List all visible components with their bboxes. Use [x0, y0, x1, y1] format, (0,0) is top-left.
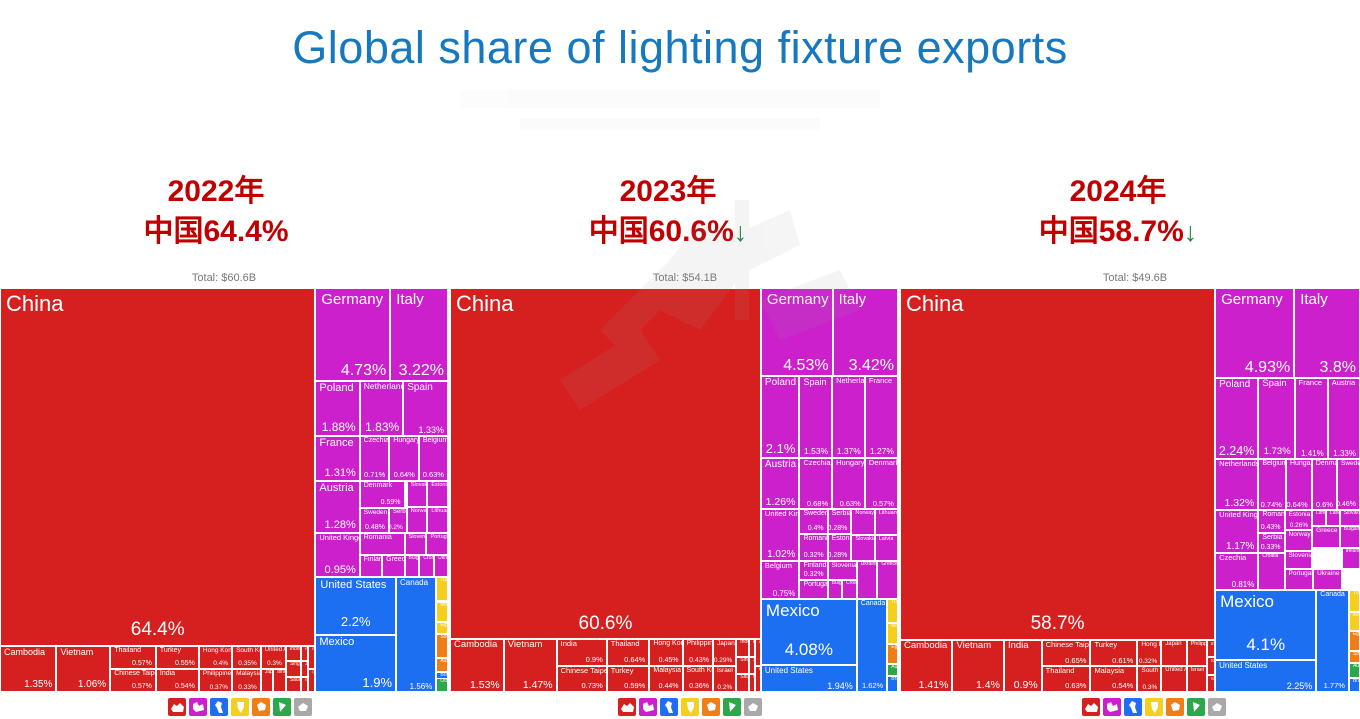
treemap-cell[interactable]: Czechia0.68%	[799, 458, 832, 510]
treemap-cell[interactable]: Hong Kong0.45%	[649, 639, 682, 665]
legend-other-green-icon[interactable]	[1187, 698, 1205, 716]
cell-country-label: Estonia	[431, 482, 448, 488]
treemap-cell[interactable]: South Africa	[436, 634, 448, 658]
treemap-cell[interactable]: Canada1.77%	[1316, 590, 1349, 692]
cell-country-label: China	[906, 291, 963, 316]
treemap-cell[interactable]: Ukraine	[434, 555, 448, 577]
cell-country-label: United Kingdom	[1219, 511, 1258, 520]
cell-value-label: 0.64%	[394, 471, 415, 480]
legend-asia-icon[interactable]	[168, 698, 186, 716]
treemap-cell[interactable]: Canada1.62%	[857, 599, 887, 692]
legend-americas-icon[interactable]	[1124, 698, 1142, 716]
treemap-cell[interactable]: Israel0.2%	[713, 666, 736, 692]
treemap-cell[interactable]: Finland0.32%	[799, 561, 827, 580]
treemap-cell[interactable]: Indonesia	[1207, 640, 1215, 657]
treemap-cell[interactable]: Spain1.73%	[1258, 378, 1294, 459]
cell-country-label: Czechia	[803, 459, 830, 468]
treemap-cell[interactable]: Turkey0.59%	[607, 666, 650, 692]
treemap-cell[interactable]: Bulgaria	[405, 555, 420, 577]
cell-country-label: South Korea	[1141, 667, 1161, 674]
treemap-cell[interactable]: Malaysia0.33%	[232, 669, 261, 692]
cell-value-label: 1.47%	[523, 679, 553, 691]
cell-country-label: Denmark	[1316, 460, 1337, 468]
treemap-cell[interactable]: Philippines0.43%	[683, 639, 713, 665]
treemap-cell[interactable]: Indonesia	[736, 639, 749, 656]
treemap-canvas[interactable]: China64.4%Cambodia1.35%Vietnam1.06%Thail…	[0, 288, 448, 692]
legend-unspecified-grey-icon[interactable]	[1208, 698, 1226, 716]
treemap-canvas[interactable]: China60.6%Cambodia1.53%Vietnam1.47%India…	[450, 288, 898, 692]
legend-unspecified-grey-icon[interactable]	[294, 698, 312, 716]
treemap-cell[interactable]: Slovenia	[1285, 551, 1313, 570]
treemap-cell[interactable]: Australia	[1349, 663, 1360, 678]
treemap-cell[interactable]: Norway	[851, 509, 874, 535]
treemap-cell[interactable]: Saudi Arabia	[736, 674, 749, 692]
treemap-cell[interactable]: Sweden0.46%	[1337, 459, 1360, 510]
treemap-cell[interactable]: Portugal	[1285, 569, 1314, 590]
treemap-cell[interactable]: Saudi Arabia	[1207, 675, 1215, 692]
treemap-cell[interactable]: Estonia0.28%	[828, 534, 852, 561]
treemap-cell[interactable]: Ukraine	[1313, 569, 1342, 590]
legend-europe-icon[interactable]	[1103, 698, 1121, 716]
cell-country-label: Denmark	[869, 459, 898, 468]
treemap-cell[interactable]: Canada1.56%	[396, 577, 436, 692]
treemap-cell[interactable]: Sweden0.4%	[799, 509, 827, 534]
cell-value-label: 0.81%	[1232, 580, 1255, 589]
cell-value-label: 1.88%	[322, 421, 356, 435]
treemap-cell[interactable]: Thailand0.57%	[110, 646, 156, 669]
treemap-cell[interactable]: Vietnam1.4%	[952, 640, 1004, 692]
treemap-cell[interactable]: Denmark0.6%	[1312, 459, 1337, 510]
cell-value-label: 1.33%	[418, 425, 444, 435]
treemap-cell[interactable]: South Korea0.36%	[683, 666, 713, 692]
treemap-cell[interactable]: Vietnam1.47%	[504, 639, 557, 692]
treemap-cell[interactable]: Egypt	[436, 622, 448, 634]
cell-country-label: Israel	[1191, 667, 1204, 673]
treemap-cell[interactable]: United Arab Emirates	[1161, 666, 1186, 692]
treemap-cell[interactable]: Spain1.53%	[799, 376, 832, 458]
cell-country-label: France	[869, 377, 892, 386]
cell-country-label: Hong Kong	[203, 647, 232, 654]
treemap-cell[interactable]: Slovenia	[405, 533, 427, 555]
cell-country-label: Lithuania	[879, 510, 898, 516]
cell-country-label: Germany	[1221, 291, 1283, 308]
treemap-cell[interactable]: Italy3.8%	[1294, 288, 1360, 378]
treemap-cell[interactable]: Chinese Taipei0.65%	[1042, 640, 1091, 666]
treemap-cell[interactable]: Australia	[436, 658, 448, 672]
treemap-cell[interactable]: Ireland	[1342, 548, 1360, 569]
cell-value-label: 0.9%	[1014, 679, 1038, 691]
cell-value-label: 0.75%	[773, 589, 796, 598]
treemap-cell[interactable]: Bulgaria	[828, 580, 842, 599]
cell-value-label: 3.22%	[399, 362, 444, 380]
treemap-cell[interactable]: Greece	[877, 561, 898, 599]
treemap-cell[interactable]: United Kingdom1.17%	[1215, 510, 1258, 553]
treemap-cell[interactable]: Vietnam1.06%	[56, 646, 110, 692]
cell-country-label: China	[456, 291, 513, 316]
cell-country-label: Croatia	[423, 556, 434, 562]
cell-value-label: 0.45%	[659, 657, 679, 665]
treemap-cell[interactable]: Hungary0.63%	[832, 458, 865, 510]
treemap-2023[interactable]: China60.6%Cambodia1.53%Vietnam1.47%India…	[450, 288, 898, 692]
cell-country-label: Croatia	[846, 581, 857, 587]
treemap-cell[interactable]: France1.31%	[315, 436, 359, 481]
treemap-cell[interactable]: Chinese Taipei0.73%	[557, 666, 607, 692]
treemap-cell[interactable]: Serbia0.33%	[1258, 533, 1284, 553]
cell-country-label: Cambodia	[454, 640, 497, 651]
legend-americas-icon[interactable]	[660, 698, 678, 716]
cell-value-label: 0.37%	[210, 684, 228, 691]
treemap-cell[interactable]: United States2.25%	[1215, 660, 1316, 692]
cell-country-label: Spain	[803, 377, 826, 387]
cell-value-label: 1.06%	[78, 679, 106, 691]
cell-value-label: 2.1%	[766, 442, 796, 457]
treemap-cell[interactable]: Belgium0.74%	[1258, 459, 1286, 510]
treemap-cell[interactable]: Saudi Arabia	[286, 677, 301, 692]
treemap-cell[interactable]: Tunisia	[436, 577, 448, 601]
legend-africa-icon[interactable]	[681, 698, 699, 716]
treemap-cell[interactable]: China60.6%	[450, 288, 761, 639]
treemap-cell[interactable]: Germany4.73%	[315, 288, 390, 381]
treemap-cell[interactable]: Japan0.29%	[713, 639, 736, 665]
treemap-cell[interactable]: Slovakia	[1340, 510, 1360, 525]
treemap-cell[interactable]: Mexico1.9%	[315, 635, 396, 692]
cell-country-label: Germany	[767, 291, 829, 308]
cell-country-label: Portugal	[803, 581, 827, 589]
cell-country-label: Romania	[803, 535, 827, 543]
treemap-cell[interactable]: Croatia	[842, 580, 857, 599]
treemap-cell[interactable]: Ukraine	[857, 561, 878, 599]
cell-country-label: Italy	[396, 291, 424, 308]
cell-country-label: Hungary	[836, 459, 864, 468]
cell-value-label: 1.53%	[804, 447, 828, 457]
cell-value-label: 1.37%	[837, 447, 861, 457]
treemap-cell[interactable]: Slovenia	[828, 561, 857, 580]
treemap-cell[interactable]: Lithuania	[427, 507, 448, 533]
legend-europe-icon[interactable]	[639, 698, 657, 716]
cell-value-label: 1.62%	[862, 682, 883, 691]
cell-value-label: 1.27%	[870, 447, 894, 457]
treemap-cell[interactable]: Greece	[382, 555, 404, 577]
cell-country-label: Finland	[364, 556, 382, 564]
treemap-cell[interactable]: Austria1.28%	[315, 481, 359, 533]
treemap-cell[interactable]: United Arab Emirates0.3%	[261, 646, 286, 669]
treemap-cell[interactable]: Singapore	[736, 657, 749, 674]
treemap-cell[interactable]: Norway	[407, 507, 428, 533]
cell-value-label: 0.54%	[175, 683, 195, 691]
cell-country-label: United States	[1219, 661, 1267, 670]
cell-value-label: 1.73%	[1264, 447, 1291, 458]
treemap-cell[interactable]: Hungary0.64%	[389, 436, 419, 481]
cell-value-label: 0.36%	[689, 683, 709, 691]
cell-country-label: Slovenia	[832, 562, 857, 569]
treemap-cell[interactable]: Romania0.32%	[799, 534, 827, 561]
cell-value-label: 1.53%	[470, 679, 500, 691]
treemap-cell[interactable]: Belgium0.75%	[761, 561, 800, 599]
treemap-cell[interactable]: Jordan	[301, 661, 308, 676]
treemap-cell[interactable]: Malaysia0.54%	[1090, 666, 1137, 692]
treemap-cell[interactable]: Denmark0.59%	[360, 481, 405, 508]
legend-europe-icon[interactable]	[189, 698, 207, 716]
treemap-cell[interactable]: Japan	[261, 669, 274, 692]
treemap-cell[interactable]: Israel	[1187, 666, 1207, 692]
legend-asia-icon[interactable]	[618, 698, 636, 716]
treemap-cell[interactable]: India0.9%	[557, 639, 607, 665]
cell-value-label: 1.28%	[325, 519, 356, 532]
cell-country-label: Lithuania	[1316, 511, 1326, 517]
cell-value-label: 2.24%	[1219, 444, 1254, 458]
treemap-cell[interactable]: Denmark0.57%	[865, 458, 898, 510]
treemap-cell[interactable]: Turkey0.55%	[156, 646, 199, 669]
treemap-cell[interactable]: Croatia	[1258, 553, 1284, 590]
treemap-canvas[interactable]: China58.7%Cambodia1.41%Vietnam1.4%India0…	[900, 288, 1360, 692]
legend-unspecified-grey-icon[interactable]	[744, 698, 762, 716]
treemap-cell[interactable]: Tunisia	[1349, 590, 1360, 612]
cell-country-label: Turkey	[1094, 641, 1117, 650]
treemap-cell[interactable]: Slovakia	[851, 535, 874, 561]
treemap-cell[interactable]: Other	[436, 678, 448, 692]
treemap-2024[interactable]: China58.7%Cambodia1.41%Vietnam1.4%India0…	[900, 288, 1360, 692]
cell-value-label: 0.64%	[624, 656, 645, 665]
treemap-cell[interactable]: India0.54%	[156, 669, 199, 692]
cell-country-label: Malaysia	[236, 670, 261, 677]
treemap-2022[interactable]: China64.4%Cambodia1.35%Vietnam1.06%Thail…	[0, 288, 448, 692]
treemap-cell[interactable]: Romania	[360, 533, 405, 556]
treemap-cell[interactable]: Netherlands1.37%	[832, 376, 865, 458]
cell-country-label: Slovakia	[411, 482, 428, 488]
treemap-cell[interactable]: Qatar	[308, 669, 315, 692]
cell-country-label: France	[1299, 379, 1322, 388]
treemap-cell[interactable]: Spain1.33%	[403, 381, 448, 436]
cell-value-label: 0.65%	[1065, 657, 1086, 666]
treemap-cell[interactable]: Germany4.53%	[761, 288, 833, 376]
treemap-cell[interactable]: South Africa	[1349, 651, 1360, 663]
treemap-cell[interactable]: Norway	[1285, 530, 1313, 550]
cell-value-label: 4.08%	[762, 640, 856, 660]
cell-value-label: 1.94%	[827, 681, 853, 691]
treemap-cell[interactable]: Croatia	[419, 555, 434, 577]
cell-country-label: Greece	[1316, 527, 1337, 534]
treemap-cell[interactable]: Japan	[1161, 640, 1186, 666]
treemap-cell[interactable]: Netherlands1.32%	[1215, 459, 1258, 510]
treemap-cell[interactable]: Lithuania	[875, 509, 898, 535]
treemap-cell[interactable]: Mexico4.08%	[761, 599, 857, 664]
treemap-cell[interactable]: Portugal	[426, 533, 448, 555]
treemap-cell[interactable]: Hong Kong0.4%	[199, 646, 232, 669]
treemap-cell[interactable]: Tunisia	[887, 599, 898, 623]
treemap-cell[interactable]: Australia	[887, 664, 898, 676]
treemap-cell[interactable]: Hong Kong0.32%	[1137, 640, 1161, 666]
cell-value-label: 0.73%	[582, 682, 603, 691]
cell-value-label: 0.63%	[423, 471, 444, 480]
treemap-cell[interactable]: Cambodia1.53%	[450, 639, 504, 692]
treemap-cell[interactable]: Israel	[273, 669, 286, 692]
cell-country-label: Egypt	[1353, 632, 1360, 638]
cell-country-label: Poland	[319, 382, 353, 395]
cell-value-label: 0.32%	[804, 552, 824, 560]
legend-africa-icon[interactable]	[1145, 698, 1163, 716]
cell-value-label: 4.1%	[1216, 635, 1315, 655]
cell-country-label: Latvia	[879, 536, 894, 542]
cell-value-label: 0.33%	[238, 684, 256, 691]
total-2024: Total: $49.6B	[985, 272, 1285, 284]
cell-value-label: 0.4%	[213, 660, 228, 667]
cell-value-label: 0.63%	[840, 500, 861, 509]
cell-country-label: Portugal	[1289, 570, 1313, 577]
treemap-cell[interactable]: United States2.2%	[315, 577, 396, 635]
cell-country-label: Czechia	[1219, 554, 1246, 563]
treemap-cell[interactable]: Thailand0.63%	[1042, 666, 1091, 692]
treemap-cell[interactable]: Estonia0.26%	[1285, 510, 1313, 530]
treemap-cell[interactable]: Egypt	[887, 644, 898, 664]
cell-country-label: Ukraine	[1317, 570, 1339, 577]
treemap-cell[interactable]: Italy3.42%	[833, 288, 898, 376]
cell-country-label: Ukraine	[438, 556, 448, 562]
treemap-cell[interactable]: Estonia	[427, 481, 448, 507]
cell-country-label: Malaysia	[1094, 667, 1124, 676]
treemap-cell[interactable]: Poland2.1%	[761, 376, 800, 458]
cell-value-label: 1.83%	[365, 421, 399, 435]
cell-country-label: Japan	[265, 670, 274, 676]
treemap-cell[interactable]: United Kingdom0.95%	[315, 533, 359, 577]
cell-country-label: United Kingdom	[765, 510, 800, 519]
cell-country-label: Slovakia	[855, 536, 874, 542]
cell-country-label: Denmark	[364, 482, 392, 490]
cell-country-label: Austria	[319, 482, 353, 495]
treemap-cell[interactable]: Poland1.88%	[315, 381, 359, 436]
legend-americas-icon[interactable]	[210, 698, 228, 716]
cell-country-label: Mexico	[766, 601, 820, 621]
treemap-cell[interactable]: Brazil	[1349, 678, 1360, 692]
treemap-cell[interactable]: Poland2.24%	[1215, 378, 1258, 459]
treemap-cell[interactable]: China58.7%	[900, 288, 1215, 640]
treemap-cell[interactable]: Chinese Taipei0.57%	[110, 669, 156, 692]
cell-value-label: 0.48%	[365, 524, 385, 532]
treemap-cell[interactable]: Finland	[360, 555, 382, 577]
legend-africa-icon[interactable]	[231, 698, 249, 716]
treemap-cell[interactable]: Bulgaria	[1340, 526, 1360, 549]
legend-2023[interactable]	[618, 698, 762, 716]
treemap-cell[interactable]: Portugal	[799, 580, 827, 599]
cell-country-label: United Kingdom	[319, 534, 359, 543]
treemap-cell[interactable]: Romania0.43%	[1258, 510, 1284, 533]
cell-country-label: Australia	[891, 665, 898, 671]
treemap-cell[interactable]: South Korea0.3%	[1137, 666, 1161, 692]
treemap-cell[interactable]: Cambodia1.35%	[0, 646, 56, 692]
treemap-cell[interactable]: Indonesia	[286, 646, 301, 661]
cell-value-label: 0.35%	[238, 660, 256, 667]
cell-country-label: Latvia	[1330, 511, 1340, 517]
treemap-cell[interactable]: Singapore	[1207, 657, 1215, 674]
year-label: 2024年	[968, 172, 1268, 212]
cell-value-label: 0.57%	[873, 500, 894, 509]
treemap-cell[interactable]: Austria1.26%	[761, 458, 800, 510]
treemap-cell[interactable]: Malaysia0.44%	[649, 666, 682, 692]
legend-oceania-icon[interactable]	[252, 698, 270, 716]
cell-country-label: Philippines	[687, 640, 713, 648]
treemap-cell[interactable]: France1.41%	[1295, 378, 1328, 459]
treemap-cell[interactable]: Latvia	[1326, 510, 1340, 525]
cell-country-label: Lithuania	[431, 508, 448, 514]
cell-value-label: 0.2%	[389, 524, 403, 531]
treemap-cell[interactable]: Serbia0.28%	[828, 509, 852, 534]
cell-value-label: 0.32%	[804, 571, 824, 579]
treemap-cell[interactable]: South Korea0.35%	[232, 646, 261, 669]
treemap-cell[interactable]: Latvia	[875, 535, 898, 561]
legend-other-green-icon[interactable]	[723, 698, 741, 716]
treemap-cell[interactable]: Czechia0.71%	[360, 436, 390, 481]
cell-value-label: 1.77%	[1324, 682, 1345, 691]
cell-country-label: Greece	[386, 556, 404, 564]
cell-country-label: Spain	[1262, 379, 1286, 390]
page-title: Global share of lighting fixture exports	[0, 22, 1360, 74]
legend-other-green-icon[interactable]	[273, 698, 291, 716]
treemap-cell[interactable]: Germany4.93%	[1215, 288, 1294, 378]
year-header-2022: 2022年 中国64.4%	[66, 172, 366, 252]
cell-value-label: 0.44%	[659, 683, 679, 691]
legend-oceania-icon[interactable]	[702, 698, 720, 716]
legend-oceania-icon[interactable]	[1166, 698, 1184, 716]
cell-value-label: 2.25%	[1287, 681, 1313, 691]
treemap-cell[interactable]: Bangladesh	[308, 646, 315, 669]
treemap-cell[interactable]: Singapore	[286, 661, 301, 676]
cell-country-label: Belgium	[1262, 460, 1286, 468]
cell-country-label: South Korea	[236, 647, 261, 654]
cell-country-label: Norway	[411, 508, 428, 514]
legend-asia-icon[interactable]	[1082, 698, 1100, 716]
cell-value-label: 64.4%	[1, 619, 314, 641]
treemap-cell[interactable]: Hungary0.64%	[1286, 459, 1312, 510]
treemap-cell[interactable]: Morocco	[887, 623, 898, 643]
treemap-cell[interactable]: Sweden0.48%	[360, 508, 389, 533]
treemap-cell[interactable]: Belgium0.63%	[419, 436, 448, 481]
treemap-cell[interactable]: India0.9%	[1004, 640, 1042, 692]
treemap-cell[interactable]: Brazil	[887, 676, 898, 692]
treemap-cell[interactable]: Sri Lanka	[301, 677, 308, 692]
treemap-cell[interactable]: Italy3.22%	[390, 288, 448, 381]
cell-country-label: Bulgaria	[409, 556, 420, 562]
treemap-cell[interactable]: France1.27%	[865, 376, 898, 458]
treemap-cell[interactable]: Czechia0.81%	[1215, 553, 1258, 590]
legend-2024[interactable]	[1082, 698, 1226, 716]
treemap-cell[interactable]: Austria1.33%	[1328, 378, 1360, 459]
treemap-cell[interactable]: Netherlands1.83%	[360, 381, 403, 436]
china-share-label: 中国64.4%	[66, 212, 366, 252]
treemap-cell[interactable]: United Kingdom1.02%	[761, 509, 800, 561]
treemap-cell[interactable]: United States1.94%	[761, 665, 857, 692]
treemap-cell[interactable]: Slovakia	[407, 481, 428, 507]
cell-value-label: 0.57%	[132, 683, 152, 691]
treemap-cell[interactable]: Egypt	[1349, 631, 1360, 651]
cell-country-label: Czechia	[364, 437, 389, 445]
cell-country-label: China	[6, 291, 63, 316]
legend-2022[interactable]	[168, 698, 312, 716]
treemap-cell[interactable]: Thailand0.64%	[607, 639, 650, 665]
treemap-cell[interactable]: Philippines	[1187, 640, 1207, 666]
cell-country-label: Vietnam	[60, 647, 93, 657]
treemap-cell[interactable]: Lithuania	[1312, 510, 1326, 525]
treemap-cell[interactable]: China64.4%	[0, 288, 315, 646]
treemap-cell[interactable]: Morocco	[436, 602, 448, 622]
treemap-cell[interactable]: Cambodia1.41%	[900, 640, 952, 692]
treemap-cell[interactable]: Turkey0.61%	[1090, 640, 1137, 666]
treemap-cell[interactable]: Morocco	[1349, 612, 1360, 630]
treemap-cell[interactable]: Mexico4.1%	[1215, 590, 1316, 659]
treemap-cell[interactable]: Serbia0.2%	[389, 508, 407, 533]
treemap-cell[interactable]: Pakistan	[301, 646, 308, 661]
treemap-cell[interactable]: Greece	[1312, 526, 1340, 549]
year-label: 2022年	[66, 172, 366, 212]
treemap-cell[interactable]: Philippines0.37%	[199, 669, 232, 692]
